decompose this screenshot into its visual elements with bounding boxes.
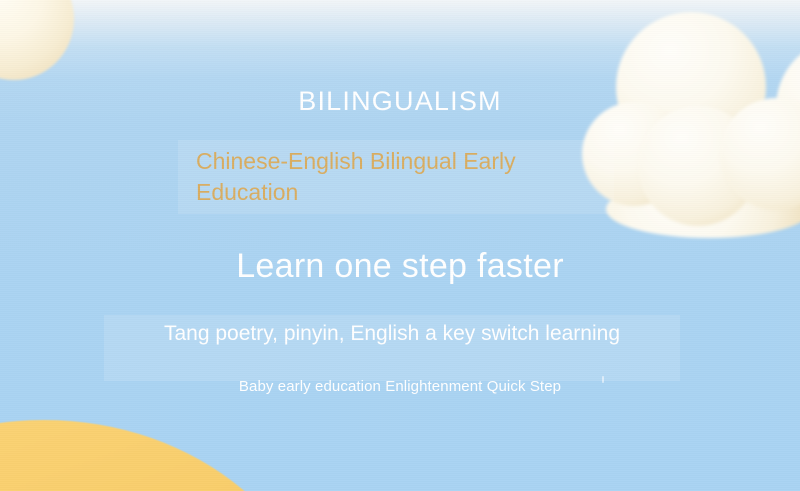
banner-subtitle: Chinese-English Bilingual Early Educatio… [196, 146, 596, 209]
banner-description: Tang poetry, pinyin, English a key switc… [104, 318, 680, 350]
banner-eyebrow: BILINGUALISM [0, 86, 800, 117]
banner-description-clip: Tang poetry, pinyin, English a key switc… [104, 318, 680, 366]
banner-headline: Learn one step faster [0, 246, 800, 287]
banner-tagline: Baby early education Enlightenment Quick… [0, 377, 800, 397]
artifact-speck [602, 376, 604, 383]
banner-content: BILINGUALISM Chinese-English Bilingual E… [0, 0, 800, 491]
promo-banner: BILINGUALISM Chinese-English Bilingual E… [0, 0, 800, 491]
